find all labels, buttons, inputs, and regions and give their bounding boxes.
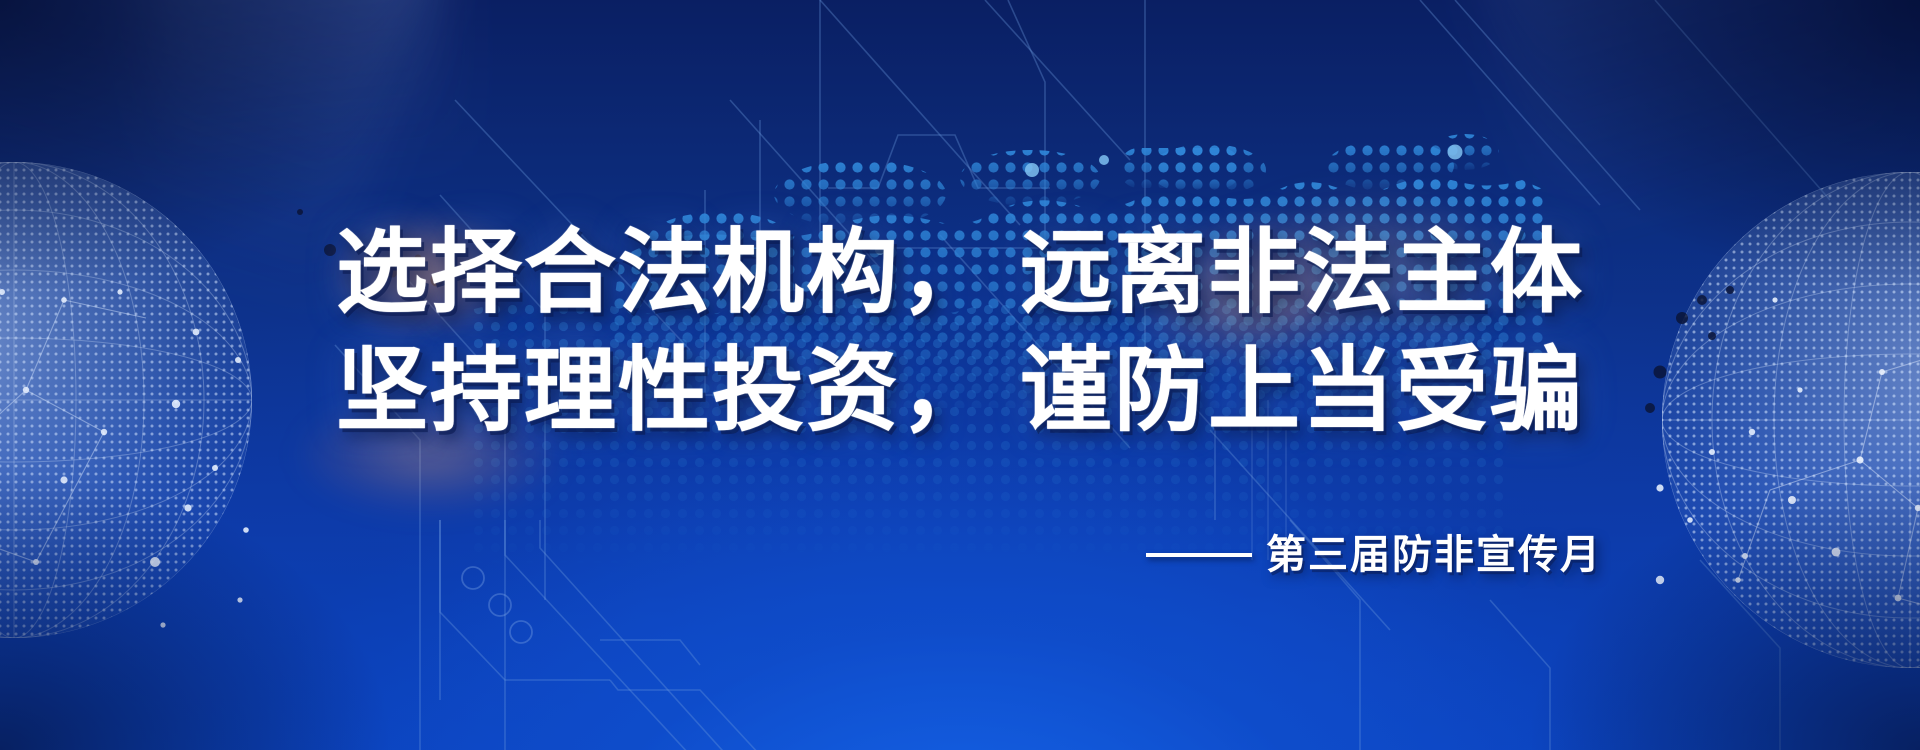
headline-line-2-part-1: 坚持理性投资， [336, 340, 994, 442]
headline-line-1-part-2: 远离非法主体 [1020, 222, 1584, 324]
attribution-text: 第三届防非宣传月 [1266, 532, 1602, 578]
banner-content: 选择合法机构，远离非法主体 坚持理性投资，谨防上当受骗 第三届防非宣传月 [0, 0, 1920, 750]
headline-line-1-part-1: 选择合法机构， [336, 222, 994, 324]
headline-line-2: 坚持理性投资，谨防上当受骗 [0, 332, 1920, 450]
headline-block: 选择合法机构，远离非法主体 坚持理性投资，谨防上当受骗 [0, 214, 1920, 450]
attribution-dash-rule [1146, 553, 1252, 557]
headline-line-1: 选择合法机构，远离非法主体 [0, 214, 1920, 332]
headline-line-2-part-2: 谨防上当受骗 [1020, 340, 1584, 442]
attribution-block: 第三届防非宣传月 [1146, 532, 1602, 578]
promotional-banner: 选择合法机构，远离非法主体 坚持理性投资，谨防上当受骗 第三届防非宣传月 [0, 0, 1920, 750]
